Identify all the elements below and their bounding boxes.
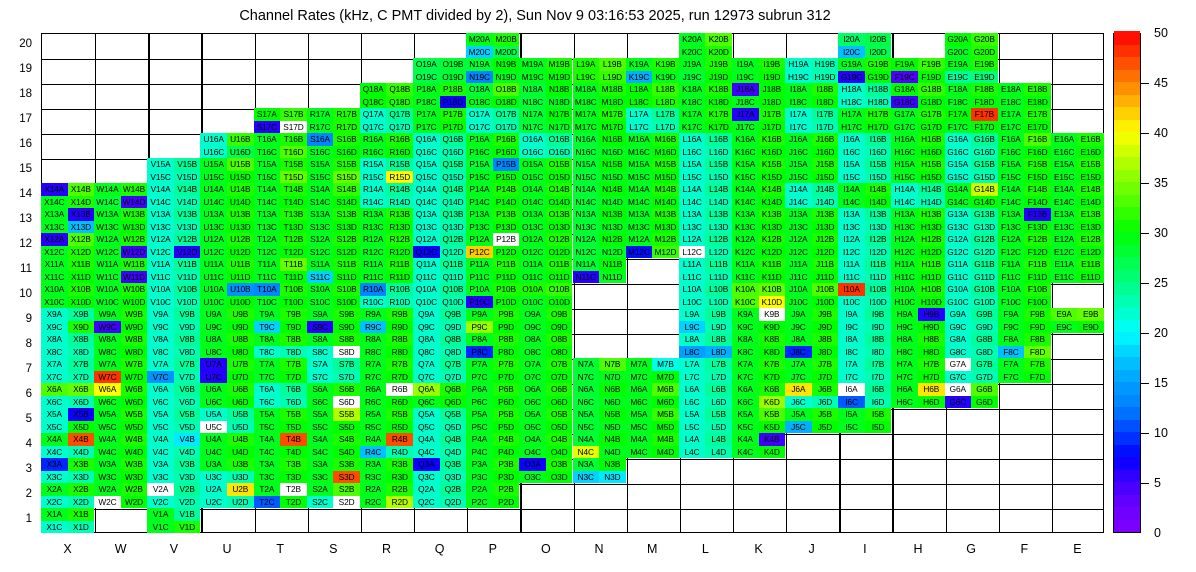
heatmap-cell[interactable]: X3D	[68, 471, 95, 484]
heatmap-cell[interactable]: Q13B	[440, 208, 467, 221]
heatmap-cell[interactable]: V2A	[147, 483, 174, 496]
heatmap-cell[interactable]: G16A	[945, 133, 972, 146]
heatmap-cell[interactable]: Q12C	[413, 246, 440, 259]
heatmap-cell[interactable]: J14C	[785, 196, 812, 209]
heatmap-cell[interactable]: U13A	[200, 208, 227, 221]
heatmap-cell[interactable]: L11B	[705, 258, 732, 271]
heatmap-cell[interactable]: M16D	[652, 146, 679, 159]
heatmap-cell[interactable]: Q9A	[413, 308, 440, 321]
heatmap-cell[interactable]: H17A	[838, 108, 865, 121]
heatmap-cell[interactable]: Q9D	[440, 321, 467, 334]
heatmap-cell[interactable]: X12C	[41, 246, 68, 259]
heatmap-cell[interactable]: F16A	[998, 133, 1025, 146]
heatmap-cell[interactable]: N3B	[599, 458, 626, 471]
heatmap-cell[interactable]: T8B	[280, 333, 307, 346]
heatmap-cell[interactable]: N14B	[599, 183, 626, 196]
heatmap-cell[interactable]: G10C	[945, 296, 972, 309]
heatmap-cell[interactable]: E13A	[1051, 208, 1078, 221]
heatmap-cell[interactable]: U4B	[227, 433, 254, 446]
heatmap-cell[interactable]: V14C	[147, 196, 174, 209]
heatmap-cell[interactable]: N16A	[573, 133, 600, 146]
heatmap-cell[interactable]: R3B	[386, 458, 413, 471]
heatmap-cell[interactable]: R4D	[386, 446, 413, 459]
heatmap-cell[interactable]: P11D	[493, 271, 520, 284]
heatmap-cell[interactable]: R7D	[386, 371, 413, 384]
heatmap-cell[interactable]: E19C	[945, 71, 972, 84]
heatmap-cell[interactable]: Q7C	[413, 371, 440, 384]
heatmap-cell[interactable]: U2B	[227, 483, 254, 496]
heatmap-cell[interactable]: U5C	[200, 421, 227, 434]
heatmap-cell[interactable]: L14D	[705, 196, 732, 209]
heatmap-cell[interactable]: P11C	[466, 271, 493, 284]
heatmap-cell[interactable]: Q6A	[413, 383, 440, 396]
heatmap-cell[interactable]: E15A	[1051, 158, 1078, 171]
heatmap-cell[interactable]: U3B	[227, 458, 254, 471]
heatmap-cell[interactable]: G7B	[971, 358, 998, 371]
heatmap-cell[interactable]: W9D	[121, 321, 148, 334]
heatmap-cell[interactable]: G14C	[945, 196, 972, 209]
heatmap-cell[interactable]: N5B	[599, 408, 626, 421]
heatmap-cell[interactable]: W4A	[94, 433, 121, 446]
heatmap-cell[interactable]: S14D	[333, 196, 360, 209]
heatmap-cell[interactable]: O8A	[519, 333, 546, 346]
heatmap-cell[interactable]: E15C	[1051, 171, 1078, 184]
heatmap-cell[interactable]: X11C	[41, 271, 68, 284]
heatmap-cell[interactable]: J17A	[732, 108, 759, 121]
heatmap-cell[interactable]: T16A	[254, 133, 281, 146]
heatmap-cell[interactable]: V15D	[174, 171, 201, 184]
heatmap-cell[interactable]: Q13D	[440, 221, 467, 234]
heatmap-cell[interactable]: T5B	[280, 408, 307, 421]
heatmap-cell[interactable]: F15A	[998, 158, 1025, 171]
heatmap-cell[interactable]: V2B	[174, 483, 201, 496]
heatmap-cell[interactable]: X6A	[41, 383, 68, 396]
heatmap-cell[interactable]: I7A	[838, 358, 865, 371]
heatmap-cell[interactable]: U11C	[200, 271, 227, 284]
heatmap-cell[interactable]: V6B	[174, 383, 201, 396]
heatmap-cell[interactable]: N12B	[599, 233, 626, 246]
heatmap-cell[interactable]: T4D	[280, 446, 307, 459]
heatmap-cell[interactable]: G8C	[945, 346, 972, 359]
heatmap-cell[interactable]: O7C	[519, 371, 546, 384]
heatmap-cell[interactable]: V6D	[174, 396, 201, 409]
heatmap-cell[interactable]: Q10B	[440, 283, 467, 296]
heatmap-cell[interactable]: P7A	[466, 358, 493, 371]
heatmap-cell[interactable]: H11D	[918, 271, 945, 284]
heatmap-cell[interactable]: K9D	[759, 321, 786, 334]
heatmap-cell[interactable]: J18B	[759, 83, 786, 96]
heatmap-cell[interactable]: N6A	[573, 383, 600, 396]
heatmap-cell[interactable]: S15D	[333, 171, 360, 184]
heatmap-cell[interactable]: O5B	[546, 408, 573, 421]
heatmap-cell[interactable]: R7A	[360, 358, 387, 371]
heatmap-cell[interactable]: P18C	[413, 96, 440, 109]
heatmap-cell[interactable]: R2D	[386, 496, 413, 509]
heatmap-cell[interactable]: Q6B	[440, 383, 467, 396]
heatmap-cell[interactable]: L16B	[705, 133, 732, 146]
heatmap-cell[interactable]: I9B	[865, 308, 892, 321]
heatmap-cell[interactable]: G10D	[971, 296, 998, 309]
heatmap-cell[interactable]: R15D	[386, 171, 413, 184]
heatmap-cell[interactable]: O11C	[519, 271, 546, 284]
heatmap-cell[interactable]: O10B	[546, 283, 573, 296]
heatmap-cell[interactable]: G18C	[891, 96, 918, 109]
heatmap-cell[interactable]: H9B	[918, 308, 945, 321]
heatmap-cell[interactable]: S15C	[307, 171, 334, 184]
heatmap-cell[interactable]: K17C	[679, 121, 706, 134]
heatmap-cell[interactable]: W11A	[94, 258, 121, 271]
heatmap-cell[interactable]: U10A	[200, 283, 227, 296]
heatmap-cell[interactable]: P9A	[466, 308, 493, 321]
heatmap-cell[interactable]: H14A	[891, 183, 918, 196]
heatmap-cell[interactable]: G6B	[971, 383, 998, 396]
heatmap-cell[interactable]: U4C	[200, 446, 227, 459]
heatmap-cell[interactable]: S7C	[307, 371, 334, 384]
heatmap-cell[interactable]: Q3D	[440, 471, 467, 484]
heatmap-cell[interactable]: L18A	[626, 83, 653, 96]
heatmap-cell[interactable]: K13B	[759, 208, 786, 221]
heatmap-cell[interactable]: R6B	[386, 383, 413, 396]
heatmap-cell[interactable]: Q14A	[413, 183, 440, 196]
heatmap-cell[interactable]: F9D	[1024, 321, 1051, 334]
heatmap-cell[interactable]: T10C	[254, 296, 281, 309]
heatmap-cell[interactable]: O6D	[546, 396, 573, 409]
heatmap-cell[interactable]: E14D	[1077, 196, 1104, 209]
heatmap-cell[interactable]: G12B	[971, 233, 998, 246]
heatmap-cell[interactable]: V10A	[147, 283, 174, 296]
heatmap-cell[interactable]: E12C	[1051, 246, 1078, 259]
heatmap-cell[interactable]: L10C	[679, 296, 706, 309]
heatmap-cell[interactable]: I5D	[865, 421, 892, 434]
heatmap-cell[interactable]: N7C	[573, 371, 600, 384]
heatmap-cell[interactable]: Q17C	[360, 121, 387, 134]
heatmap-cell[interactable]: S3B	[333, 458, 360, 471]
heatmap-cell[interactable]: X13B	[68, 208, 95, 221]
heatmap-cell[interactable]: U11B	[227, 258, 254, 271]
heatmap-cell[interactable]: H13A	[891, 208, 918, 221]
heatmap-cell[interactable]: Q10A	[413, 283, 440, 296]
heatmap-cell[interactable]: O15C	[519, 171, 546, 184]
heatmap-cell[interactable]: I6A	[838, 383, 865, 396]
heatmap-cell[interactable]: L8C	[679, 346, 706, 359]
heatmap-cell[interactable]: W8B	[121, 333, 148, 346]
heatmap-cell[interactable]: M5C	[626, 421, 653, 434]
heatmap-cell[interactable]: V12A	[147, 233, 174, 246]
heatmap-cell[interactable]: G19D	[865, 71, 892, 84]
heatmap-cell[interactable]: V14A	[147, 183, 174, 196]
heatmap-cell[interactable]: Q9C	[413, 321, 440, 334]
heatmap-cell[interactable]: P10A	[466, 283, 493, 296]
heatmap-cell[interactable]: K15D	[759, 171, 786, 184]
heatmap-cell[interactable]: X14D	[68, 196, 95, 209]
heatmap-cell[interactable]: V4C	[147, 446, 174, 459]
heatmap-cell[interactable]: P13C	[466, 221, 493, 234]
heatmap-cell[interactable]: O19C	[413, 71, 440, 84]
heatmap-cell[interactable]: T11B	[280, 258, 307, 271]
heatmap-cell[interactable]: I9C	[838, 321, 865, 334]
heatmap-cell[interactable]: I17A	[785, 108, 812, 121]
heatmap-cell[interactable]: G7A	[945, 358, 972, 371]
heatmap-cell[interactable]: U2A	[200, 483, 227, 496]
heatmap-cell[interactable]: V8C	[147, 346, 174, 359]
heatmap-cell[interactable]: X6D	[68, 396, 95, 409]
heatmap-cell[interactable]: L18D	[652, 96, 679, 109]
heatmap-cell[interactable]: S11B	[333, 258, 360, 271]
heatmap-cell[interactable]: N5D	[599, 421, 626, 434]
heatmap-cell[interactable]: L13D	[705, 221, 732, 234]
heatmap-cell[interactable]: R14A	[360, 183, 387, 196]
heatmap-cell[interactable]: S15B	[333, 158, 360, 171]
heatmap-cell[interactable]: Q5B	[440, 408, 467, 421]
heatmap-cell[interactable]: X6C	[41, 396, 68, 409]
heatmap-cell[interactable]: I18A	[785, 83, 812, 96]
heatmap-cell[interactable]: Q15A	[413, 158, 440, 171]
heatmap-cell[interactable]: M4B	[652, 433, 679, 446]
heatmap-cell[interactable]: I16C	[838, 146, 865, 159]
heatmap-cell[interactable]: L13C	[679, 221, 706, 234]
heatmap-cell[interactable]: W5A	[94, 408, 121, 421]
heatmap-cell[interactable]: L8D	[705, 346, 732, 359]
heatmap-cell[interactable]: T3A	[254, 458, 281, 471]
heatmap-cell[interactable]: R15B	[386, 158, 413, 171]
heatmap-cell[interactable]: K6A	[732, 383, 759, 396]
heatmap-cell[interactable]: S11A	[307, 258, 334, 271]
heatmap-cell[interactable]: X6B	[68, 383, 95, 396]
heatmap-cell[interactable]: K11D	[759, 271, 786, 284]
heatmap-cell[interactable]: G7C	[945, 371, 972, 384]
heatmap-cell[interactable]: R17B	[333, 108, 360, 121]
heatmap-cell[interactable]: N13B	[599, 208, 626, 221]
heatmap-cell[interactable]: O12A	[519, 233, 546, 246]
heatmap-cell[interactable]: J7B	[812, 358, 839, 371]
heatmap-cell[interactable]: J17B	[759, 108, 786, 121]
heatmap-cell[interactable]: T12B	[280, 233, 307, 246]
heatmap-cell[interactable]: P18B	[440, 83, 467, 96]
heatmap-cell[interactable]: I12C	[838, 246, 865, 259]
heatmap-cell[interactable]: S17D	[280, 121, 307, 134]
heatmap-cell[interactable]: Q8D	[440, 346, 467, 359]
heatmap-cell[interactable]: G9A	[945, 308, 972, 321]
heatmap-cell[interactable]: Q12A	[413, 233, 440, 246]
heatmap-cell[interactable]: J12C	[785, 246, 812, 259]
heatmap-cell[interactable]: J11C	[785, 271, 812, 284]
heatmap-cell[interactable]: N15B	[599, 158, 626, 171]
heatmap-cell[interactable]: I11D	[865, 271, 892, 284]
heatmap-cell[interactable]: P7C	[466, 371, 493, 384]
heatmap-cell[interactable]: L14C	[679, 196, 706, 209]
heatmap-cell[interactable]: M20B	[493, 33, 520, 46]
heatmap-cell[interactable]: O4C	[519, 446, 546, 459]
heatmap-cell[interactable]: H12A	[891, 233, 918, 246]
heatmap-cell[interactable]: O8D	[546, 346, 573, 359]
heatmap-cell[interactable]: M13A	[626, 208, 653, 221]
heatmap-cell[interactable]: M19C	[519, 71, 546, 84]
heatmap-cell[interactable]: T2C	[254, 496, 281, 509]
heatmap-cell[interactable]: H6C	[891, 396, 918, 409]
heatmap-cell[interactable]: I8B	[865, 333, 892, 346]
heatmap-cell[interactable]: G10B	[971, 283, 998, 296]
heatmap-cell[interactable]: R3D	[386, 471, 413, 484]
heatmap-cell[interactable]: I6B	[865, 383, 892, 396]
heatmap-cell[interactable]: V5B	[174, 408, 201, 421]
heatmap-cell[interactable]: M17D	[599, 121, 626, 134]
heatmap-cell[interactable]: R13D	[386, 221, 413, 234]
heatmap-cell[interactable]: X11B	[68, 258, 95, 271]
heatmap-cell[interactable]: X8B	[68, 333, 95, 346]
heatmap-cell[interactable]: P5B	[493, 408, 520, 421]
heatmap-cell[interactable]: P9B	[493, 308, 520, 321]
heatmap-cell[interactable]: S10A	[307, 283, 334, 296]
heatmap-cell[interactable]: J16C	[785, 146, 812, 159]
heatmap-cell[interactable]: N18A	[519, 83, 546, 96]
heatmap-cell[interactable]: O7B	[546, 358, 573, 371]
heatmap-cell[interactable]: H19C	[785, 71, 812, 84]
heatmap-cell[interactable]: U13D	[227, 221, 254, 234]
heatmap-cell[interactable]: R12B	[386, 233, 413, 246]
heatmap-cell[interactable]: R13B	[386, 208, 413, 221]
heatmap-cell[interactable]: N14C	[573, 196, 600, 209]
heatmap-cell[interactable]: U7B	[227, 358, 254, 371]
heatmap-cell[interactable]: V11A	[147, 258, 174, 271]
heatmap-cell[interactable]: K17D	[705, 121, 732, 134]
heatmap-cell[interactable]: V10B	[174, 283, 201, 296]
heatmap-cell[interactable]: R2A	[360, 483, 387, 496]
heatmap-cell[interactable]: O10D	[546, 296, 573, 309]
heatmap-cell[interactable]: F10C	[998, 296, 1025, 309]
heatmap-cell[interactable]: K10B	[759, 283, 786, 296]
heatmap-cell[interactable]: S5A	[307, 408, 334, 421]
heatmap-cell[interactable]: S10C	[307, 296, 334, 309]
heatmap-cell[interactable]: P13A	[466, 208, 493, 221]
heatmap-cell[interactable]: K12A	[732, 233, 759, 246]
heatmap-cell[interactable]: E13C	[1051, 221, 1078, 234]
heatmap-cell[interactable]: S7B	[333, 358, 360, 371]
heatmap-cell[interactable]: G12A	[945, 233, 972, 246]
heatmap-cell[interactable]: P7D	[493, 371, 520, 384]
heatmap-cell[interactable]: J17C	[732, 121, 759, 134]
heatmap-cell[interactable]: K14B	[759, 183, 786, 196]
heatmap-cell[interactable]: L6C	[679, 396, 706, 409]
heatmap-cell[interactable]: O10C	[519, 296, 546, 309]
heatmap-cell[interactable]: L18B	[652, 83, 679, 96]
heatmap-cell[interactable]: K12D	[759, 246, 786, 259]
heatmap-cell[interactable]: J16A	[785, 133, 812, 146]
heatmap-cell[interactable]: W14A	[94, 183, 121, 196]
heatmap-cell[interactable]: T4B	[280, 433, 307, 446]
heatmap-cell[interactable]: Q16A	[413, 133, 440, 146]
heatmap-cell[interactable]: J11B	[812, 258, 839, 271]
heatmap-cell[interactable]: F10A	[998, 283, 1025, 296]
heatmap-cell[interactable]: Q14C	[413, 196, 440, 209]
heatmap-cell[interactable]: I12A	[838, 233, 865, 246]
heatmap-cell[interactable]: X3A	[41, 458, 68, 471]
heatmap-cell[interactable]: I12D	[865, 246, 892, 259]
heatmap-cell[interactable]: G18B	[918, 83, 945, 96]
heatmap-cell[interactable]: F17C	[945, 121, 972, 134]
heatmap-cell[interactable]: J13B	[812, 208, 839, 221]
heatmap-cell[interactable]: N19A	[466, 58, 493, 71]
heatmap-cell[interactable]: O14D	[546, 196, 573, 209]
heatmap-cell[interactable]: V3A	[147, 458, 174, 471]
heatmap-cell[interactable]: P14C	[466, 196, 493, 209]
heatmap-cell[interactable]: P17D	[440, 121, 467, 134]
heatmap-cell[interactable]: P8A	[466, 333, 493, 346]
heatmap-cell[interactable]: P6D	[493, 396, 520, 409]
heatmap-cell[interactable]: U8C	[200, 346, 227, 359]
heatmap-cell[interactable]: F14A	[998, 183, 1025, 196]
heatmap-cell[interactable]: G19A	[838, 58, 865, 71]
heatmap-cell[interactable]: Q10D	[440, 296, 467, 309]
heatmap-cell[interactable]: S5B	[333, 408, 360, 421]
heatmap-cell[interactable]: X5B	[68, 408, 95, 421]
heatmap-cell[interactable]: X3B	[68, 458, 95, 471]
heatmap-cell[interactable]: O8B	[546, 333, 573, 346]
heatmap-cell[interactable]: H14D	[918, 196, 945, 209]
heatmap-cell[interactable]: I13A	[838, 208, 865, 221]
heatmap-cell[interactable]: M6B	[652, 383, 679, 396]
heatmap-cell[interactable]: E14A	[1051, 183, 1078, 196]
heatmap-cell[interactable]: T15B	[280, 158, 307, 171]
heatmap-cell[interactable]: V4D	[174, 446, 201, 459]
heatmap-cell[interactable]: E16B	[1077, 133, 1104, 146]
heatmap-cell[interactable]: F13D	[1024, 221, 1051, 234]
heatmap-cell[interactable]: G15A	[945, 158, 972, 171]
heatmap-cell[interactable]: W12B	[121, 233, 148, 246]
heatmap-cell[interactable]: K20A	[679, 33, 706, 46]
heatmap-cell[interactable]: S11D	[333, 271, 360, 284]
heatmap-cell[interactable]: J12B	[812, 233, 839, 246]
heatmap-cell[interactable]: J18A	[732, 83, 759, 96]
heatmap-cell[interactable]: M20C	[466, 46, 493, 59]
heatmap-cell[interactable]: S14C	[307, 196, 334, 209]
heatmap-cell[interactable]: T3D	[280, 471, 307, 484]
heatmap-cell[interactable]: H15D	[918, 171, 945, 184]
heatmap-cell[interactable]: X1B	[68, 508, 95, 521]
heatmap-cell[interactable]: X1A	[41, 508, 68, 521]
heatmap-cell[interactable]: K5A	[732, 408, 759, 421]
heatmap-cell[interactable]: W14B	[121, 183, 148, 196]
heatmap-cell[interactable]: T5A	[254, 408, 281, 421]
heatmap-cell[interactable]: P17A	[413, 108, 440, 121]
heatmap-cell[interactable]: L10D	[705, 296, 732, 309]
heatmap-cell[interactable]: I7C	[838, 371, 865, 384]
heatmap-cell[interactable]: E12B	[1077, 233, 1104, 246]
heatmap-cell[interactable]: O19B	[440, 58, 467, 71]
heatmap-cell[interactable]: W13C	[94, 221, 121, 234]
heatmap-cell[interactable]: K16A	[732, 133, 759, 146]
heatmap-cell[interactable]: H19D	[812, 71, 839, 84]
heatmap-cell[interactable]: U14A	[200, 183, 227, 196]
heatmap-cell[interactable]: T11C	[254, 271, 281, 284]
heatmap-cell[interactable]: M5B	[652, 408, 679, 421]
heatmap-cell[interactable]: I10C	[838, 296, 865, 309]
heatmap-cell[interactable]: S4D	[333, 446, 360, 459]
heatmap-cell[interactable]: X13C	[41, 221, 68, 234]
heatmap-cell[interactable]: L12B	[705, 233, 732, 246]
heatmap-cell[interactable]: K12B	[759, 233, 786, 246]
heatmap-cell[interactable]: V7D	[174, 371, 201, 384]
heatmap-cell[interactable]: L4A	[679, 433, 706, 446]
heatmap-cell[interactable]: Q6C	[413, 396, 440, 409]
heatmap-cell[interactable]: X5D	[68, 421, 95, 434]
heatmap-cell[interactable]: I15A	[838, 158, 865, 171]
heatmap-cell[interactable]: P14D	[493, 196, 520, 209]
heatmap-cell[interactable]: M13C	[626, 221, 653, 234]
heatmap-cell[interactable]: N4D	[599, 446, 626, 459]
heatmap-cell[interactable]: L11C	[679, 271, 706, 284]
heatmap-cell[interactable]: U7A	[200, 358, 227, 371]
heatmap-cell[interactable]: T7A	[254, 358, 281, 371]
